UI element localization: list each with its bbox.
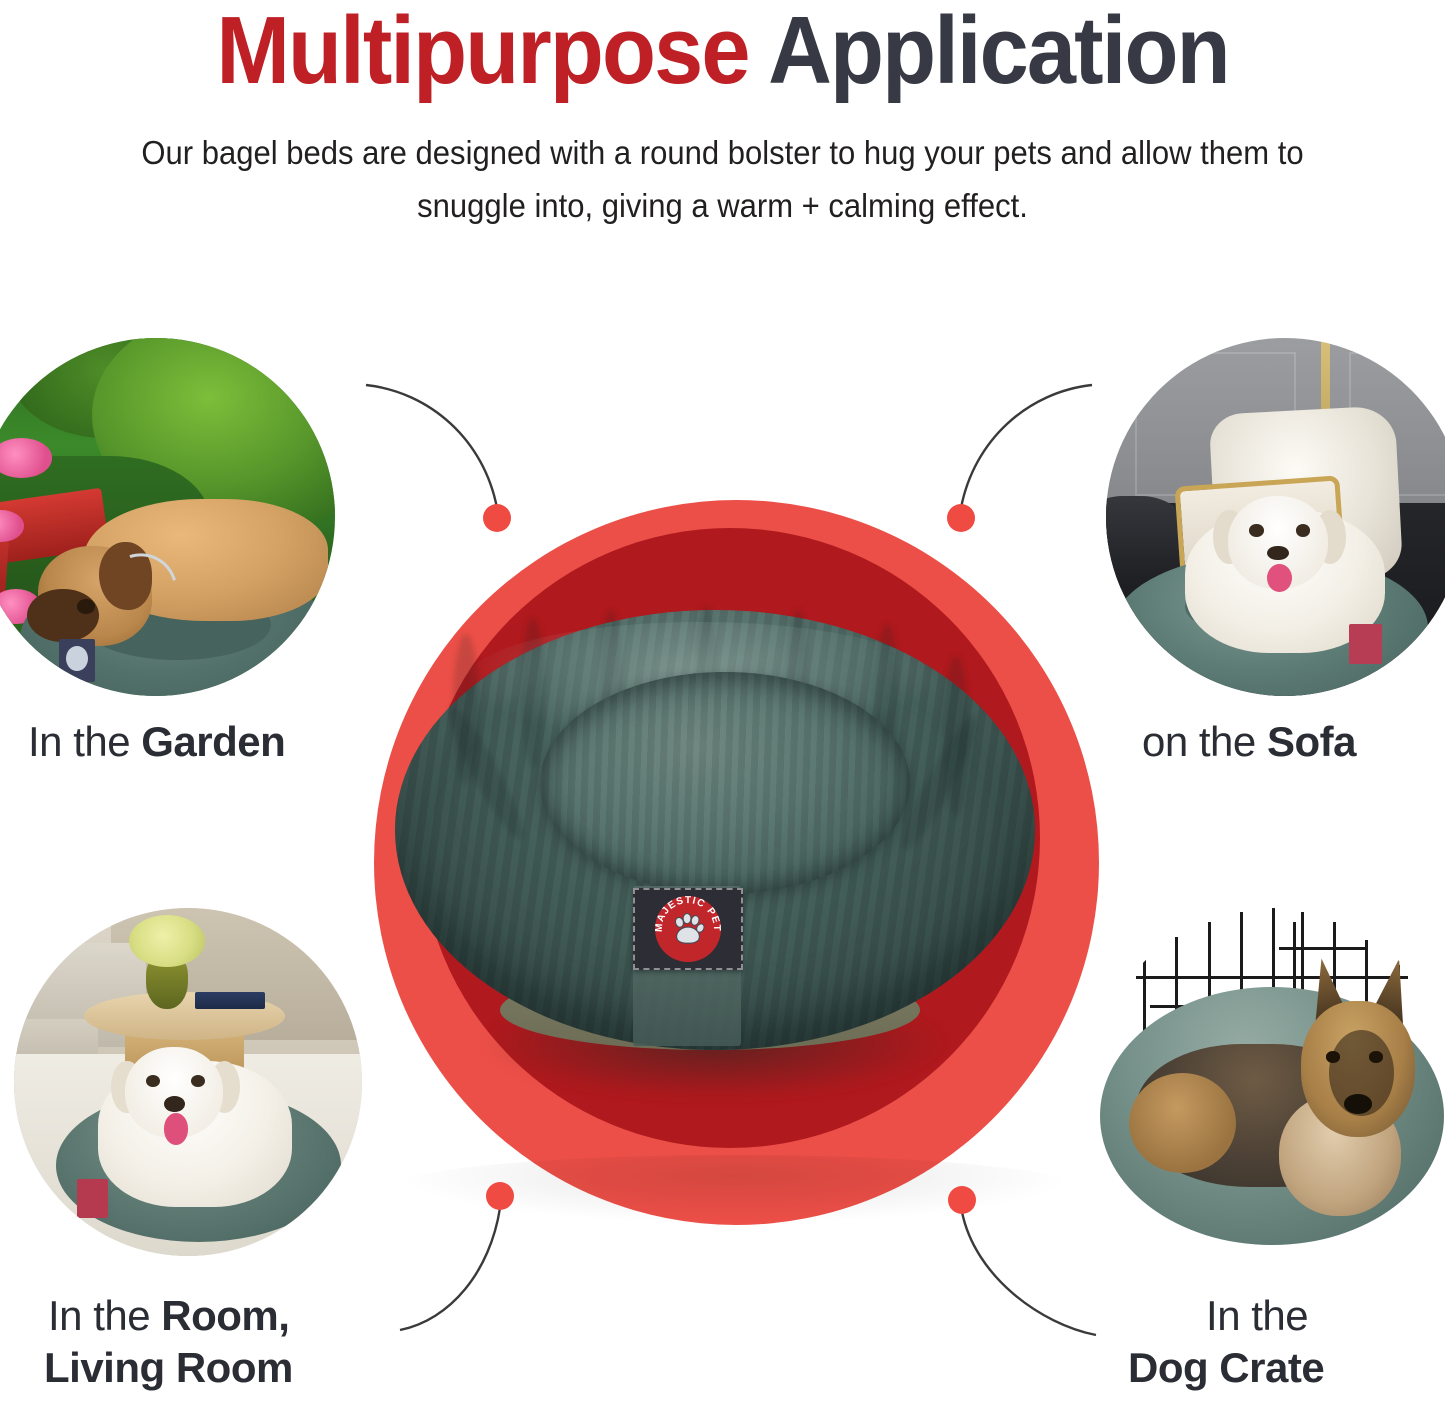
subtitle-line-2: snuggle into, giving a warm + calming ef… xyxy=(43,179,1401,232)
title-word-application: Application xyxy=(768,0,1229,104)
caption-emphasis: Sofa xyxy=(1267,718,1356,765)
product-image-bagel-bed: MAJESTIC PET xyxy=(395,600,1035,1110)
hero-ground-shadow xyxy=(385,1155,1085,1225)
caption-prefix: on the xyxy=(1142,718,1267,765)
caption-prefix: In the xyxy=(1206,1292,1308,1339)
svg-text:MAJESTIC PET: MAJESTIC PET xyxy=(655,896,721,932)
connector-line-dog-crate xyxy=(962,1212,1096,1335)
caption-prefix: In the xyxy=(28,718,141,765)
caption-line-2: Dog Crate xyxy=(1128,1344,1324,1391)
callout-caption-garden: In the Garden xyxy=(28,716,285,768)
callout-caption-sofa: on the Sofa xyxy=(1142,716,1356,768)
callout-image-garden xyxy=(0,338,335,696)
brand-logo-tag: MAJESTIC PET xyxy=(633,888,743,970)
callout-caption-living-room: In the Room, Living Room xyxy=(48,1290,293,1394)
callout-image-dog-crate xyxy=(1093,908,1445,1266)
caption-emphasis: Room, xyxy=(161,1292,289,1339)
page-title: Multipurpose Application xyxy=(58,0,1387,100)
header: Multipurpose Application Our bagel beds … xyxy=(0,0,1445,233)
brand-name-text: MAJESTIC PET xyxy=(655,896,721,932)
connector-line-living-room xyxy=(400,1208,500,1330)
caption-prefix: In the xyxy=(48,1292,161,1339)
logo-red-circle: MAJESTIC PET xyxy=(655,896,721,962)
callout-image-living-room xyxy=(14,908,362,1256)
subtitle-line-1: Our bagel beds are designed with a round… xyxy=(43,126,1401,179)
caption-emphasis: Garden xyxy=(141,718,285,765)
bed-inner-cushion xyxy=(540,672,910,894)
callout-image-sofa xyxy=(1106,338,1445,696)
title-word-multipurpose: Multipurpose xyxy=(216,0,748,104)
brand-name-arc: MAJESTIC PET xyxy=(655,896,721,962)
caption-line-2: Living Room xyxy=(44,1344,293,1391)
center-product-graphic: MAJESTIC PET xyxy=(355,465,1085,1205)
page-subtitle: Our bagel beds are designed with a round… xyxy=(43,100,1401,233)
callout-caption-dog-crate: In the Dog Crate xyxy=(1190,1290,1324,1394)
